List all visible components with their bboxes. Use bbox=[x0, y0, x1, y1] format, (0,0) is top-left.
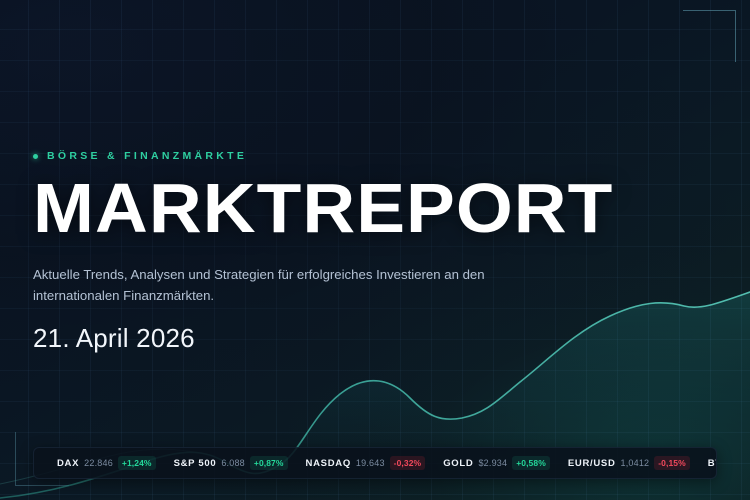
eyebrow-text: BÖRSE & FINANZMÄRKTE bbox=[47, 150, 247, 162]
ticker-symbol: GOLD bbox=[443, 458, 473, 469]
ticker-item[interactable]: DAX22.846+1,24% bbox=[48, 456, 165, 470]
corner-bracket-top-right-icon bbox=[683, 10, 736, 62]
ticker-change-badge: +0,58% bbox=[512, 456, 550, 470]
ticker-item[interactable]: EUR/USD1,0412-0,15% bbox=[559, 456, 699, 470]
ticker-change-badge: +1,24% bbox=[118, 456, 156, 470]
ticker-change-badge: +0,87% bbox=[250, 456, 288, 470]
ticker-value: 22.846 bbox=[84, 458, 113, 468]
ticker-value: $2.934 bbox=[478, 458, 507, 468]
ticker-symbol: DAX bbox=[57, 458, 79, 469]
page-title: MARKTREPORT bbox=[33, 175, 750, 242]
market-ticker-bar[interactable]: DAX22.846+1,24%S&P 5006.088+0,87%NASDAQ1… bbox=[33, 447, 717, 479]
ticker-symbol: S&P 500 bbox=[174, 458, 217, 469]
ticker-item[interactable]: NASDAQ19.643-0,32% bbox=[297, 456, 435, 470]
ticker-value: 19.643 bbox=[356, 458, 385, 468]
marktreport-hero-banner: BÖRSE & FINANZMÄRKTE MARKTREPORT Aktuell… bbox=[0, 0, 750, 500]
ticker-item[interactable]: S&P 5006.088+0,87% bbox=[165, 456, 297, 470]
bullet-dot-icon bbox=[33, 154, 38, 159]
hero-subtitle: Aktuelle Trends, Analysen und Strategien… bbox=[33, 264, 513, 307]
ticker-item[interactable]: BTC$96.480+2,41% bbox=[699, 456, 717, 470]
ticker-symbol: NASDAQ bbox=[306, 458, 351, 469]
ticker-change-badge: -0,15% bbox=[654, 456, 690, 470]
ticker-change-badge: -0,32% bbox=[390, 456, 426, 470]
hero-content: BÖRSE & FINANZMÄRKTE MARKTREPORT Aktuell… bbox=[33, 150, 733, 354]
ticker-value: 1,0412 bbox=[621, 458, 650, 468]
ticker-symbol: EUR/USD bbox=[568, 458, 616, 469]
report-date: 21. April 2026 bbox=[33, 323, 733, 354]
ticker-value: 6.088 bbox=[221, 458, 245, 468]
eyebrow-label: BÖRSE & FINANZMÄRKTE bbox=[33, 150, 733, 162]
ticker-symbol: BTC bbox=[708, 458, 717, 469]
ticker-item[interactable]: GOLD$2.934+0,58% bbox=[434, 456, 559, 470]
